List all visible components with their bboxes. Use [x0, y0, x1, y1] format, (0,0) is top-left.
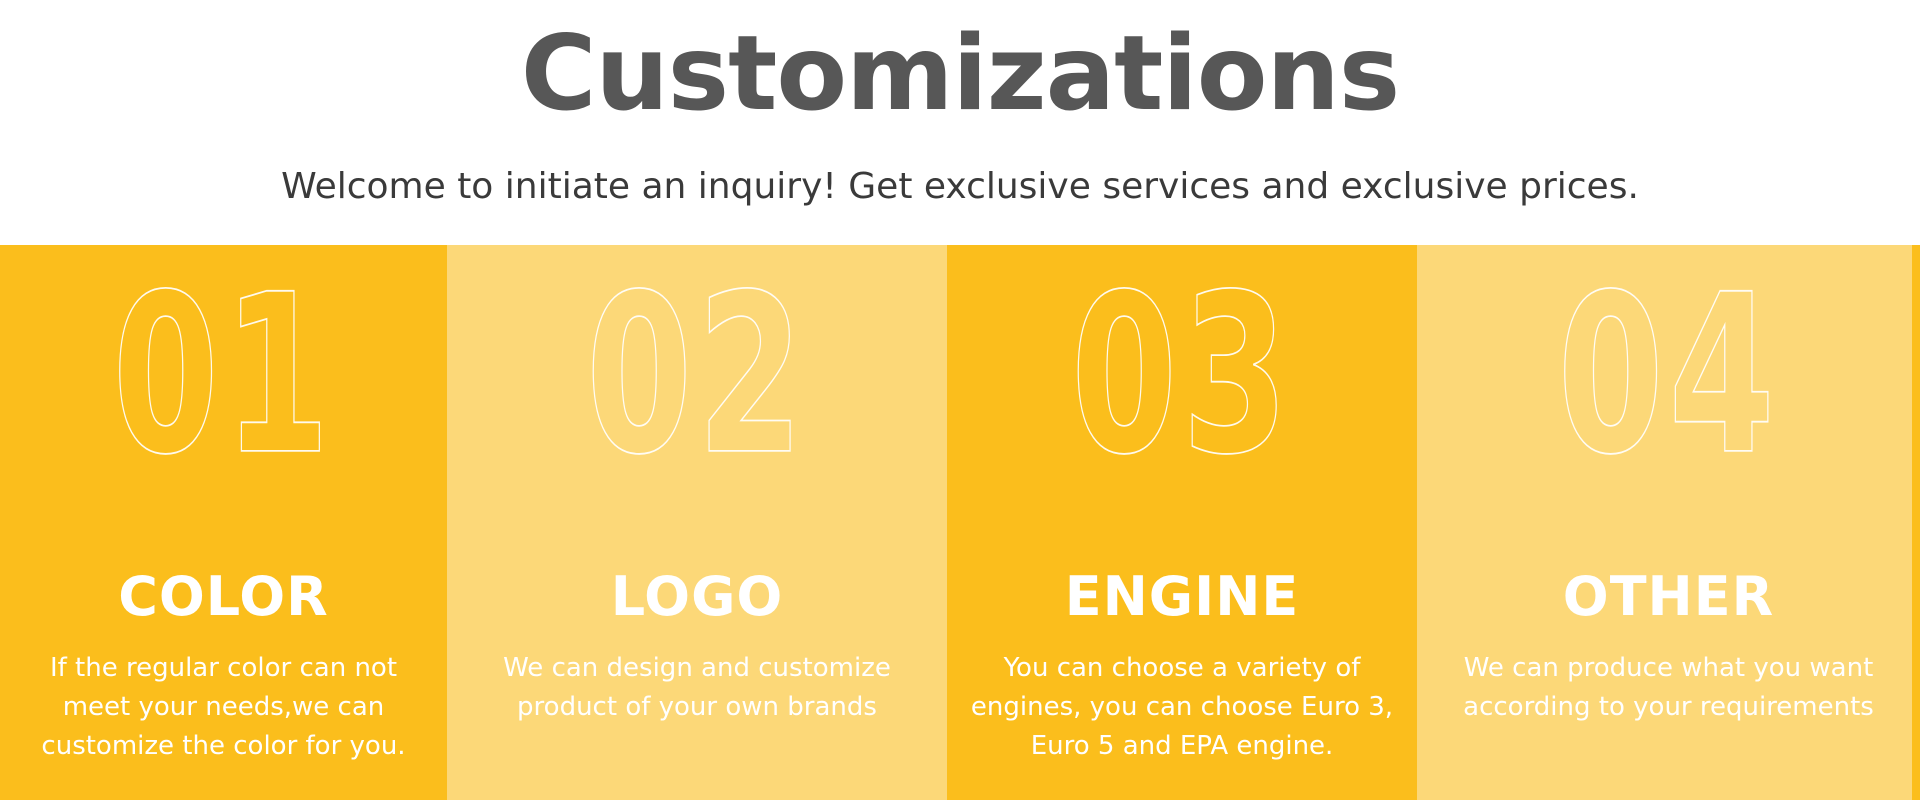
right-edge-accent-strip	[1912, 245, 1920, 800]
card-description: You can choose a variety of engines, you…	[947, 649, 1417, 766]
customization-card-color[interactable]: 01 COLOR If the regular color can not me…	[0, 245, 447, 800]
page-subtitle: Welcome to initiate an inquiry! Get excl…	[0, 165, 1920, 209]
customization-card-engine[interactable]: 03 ENGINE You can choose a variety of en…	[947, 245, 1417, 800]
card-number-badge: 01	[49, 247, 398, 505]
page-title: Customizations	[0, 18, 1920, 130]
card-heading: LOGO	[447, 567, 947, 627]
card-heading: COLOR	[0, 567, 447, 627]
card-description: We can design and customize product of y…	[447, 649, 947, 727]
card-number-badge: 02	[502, 247, 892, 505]
card-number-badge: 04	[1472, 247, 1864, 505]
card-heading: OTHER	[1417, 567, 1920, 627]
card-description: We can produce what you want according t…	[1417, 649, 1920, 727]
card-heading: ENGINE	[947, 567, 1417, 627]
customization-card-logo[interactable]: 02 LOGO We can design and customize prod…	[447, 245, 947, 800]
banner-header: Customizations Welcome to initiate an in…	[0, 0, 1920, 245]
customization-card-other[interactable]: 04 OTHER We can produce what you want ac…	[1417, 245, 1920, 800]
card-number-badge: 03	[999, 247, 1366, 505]
customizations-banner: Customizations Welcome to initiate an in…	[0, 0, 1920, 800]
customization-cards: 01 COLOR If the regular color can not me…	[0, 245, 1920, 800]
card-description: If the regular color can not meet your n…	[0, 649, 447, 766]
